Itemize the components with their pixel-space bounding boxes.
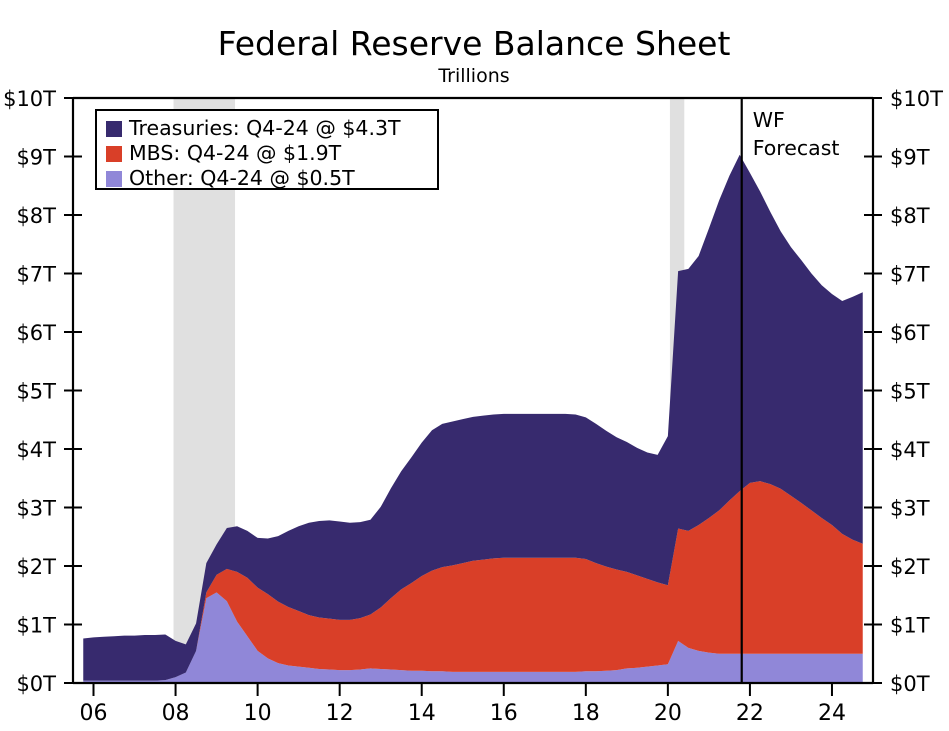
fed-balance-sheet-chart: Federal Reserve Balance Sheet Trillions …: [0, 0, 949, 727]
y-tick-label-right: $5T: [890, 380, 930, 404]
forecast-annotation-line2: Forecast: [753, 136, 840, 160]
legend-swatch-mbs: [106, 146, 122, 162]
y-tick-label-right: $9T: [890, 146, 930, 170]
y-tick-label-left: $4T: [16, 438, 56, 462]
legend-label-treasuries: Treasuries: Q4-24 @ $4.3T: [128, 116, 401, 140]
x-tick-label: 12: [326, 701, 354, 726]
y-tick-label-left: $1T: [16, 614, 56, 638]
y-tick-label-right: $8T: [890, 204, 930, 228]
x-tick-label: 08: [162, 701, 190, 726]
x-tick-label: 18: [572, 701, 600, 726]
x-tick-label: 06: [80, 701, 108, 726]
legend-item-treasuries[interactable]: Treasuries: Q4-24 @ $4.3T: [106, 116, 401, 140]
forecast-annotation-line1: WF: [753, 108, 785, 132]
y-tick-label-right: $6T: [890, 321, 930, 345]
x-tick-label: 22: [736, 701, 764, 726]
y-tick-label-right: $3T: [890, 497, 930, 521]
legend-swatch-other: [106, 171, 122, 187]
y-tick-label-right: $4T: [890, 438, 930, 462]
legend-label-mbs: MBS: Q4-24 @ $1.9T: [129, 141, 342, 165]
legend-label-other: Other: Q4-24 @ $0.5T: [129, 166, 355, 190]
y-tick-label-left: $8T: [16, 204, 56, 228]
x-tick-label: 16: [490, 701, 518, 726]
y-tick-label-left: $2T: [16, 555, 56, 579]
x-tick-label: 20: [654, 701, 682, 726]
y-tick-label-right: $10T: [890, 87, 943, 111]
legend-swatch-treasuries: [106, 121, 122, 137]
y-tick-label-left: $5T: [16, 380, 56, 404]
y-tick-label-left: $3T: [16, 497, 56, 521]
y-tick-label-left: $10T: [3, 87, 56, 111]
y-tick-label-right: $0T: [890, 672, 930, 696]
chart-legend[interactable]: Treasuries: Q4-24 @ $4.3TMBS: Q4-24 @ $1…: [96, 110, 438, 190]
y-tick-label-right: $1T: [890, 614, 930, 638]
y-tick-label-right: $7T: [890, 263, 930, 287]
chart-title: Federal Reserve Balance Sheet: [218, 24, 731, 63]
chart-subtitle: Trillions: [437, 65, 509, 87]
legend-item-mbs[interactable]: MBS: Q4-24 @ $1.9T: [106, 141, 342, 165]
legend-item-other[interactable]: Other: Q4-24 @ $0.5T: [106, 166, 355, 190]
y-tick-label-left: $0T: [16, 672, 56, 696]
y-tick-label-left: $7T: [16, 263, 56, 287]
y-tick-label-right: $2T: [890, 555, 930, 579]
y-tick-label-left: $6T: [16, 321, 56, 345]
x-tick-label: 10: [244, 701, 272, 726]
y-tick-label-left: $9T: [16, 146, 56, 170]
chart-container: Federal Reserve Balance Sheet Trillions …: [0, 0, 949, 727]
x-tick-label: 24: [818, 701, 846, 726]
x-tick-label: 14: [408, 701, 436, 726]
